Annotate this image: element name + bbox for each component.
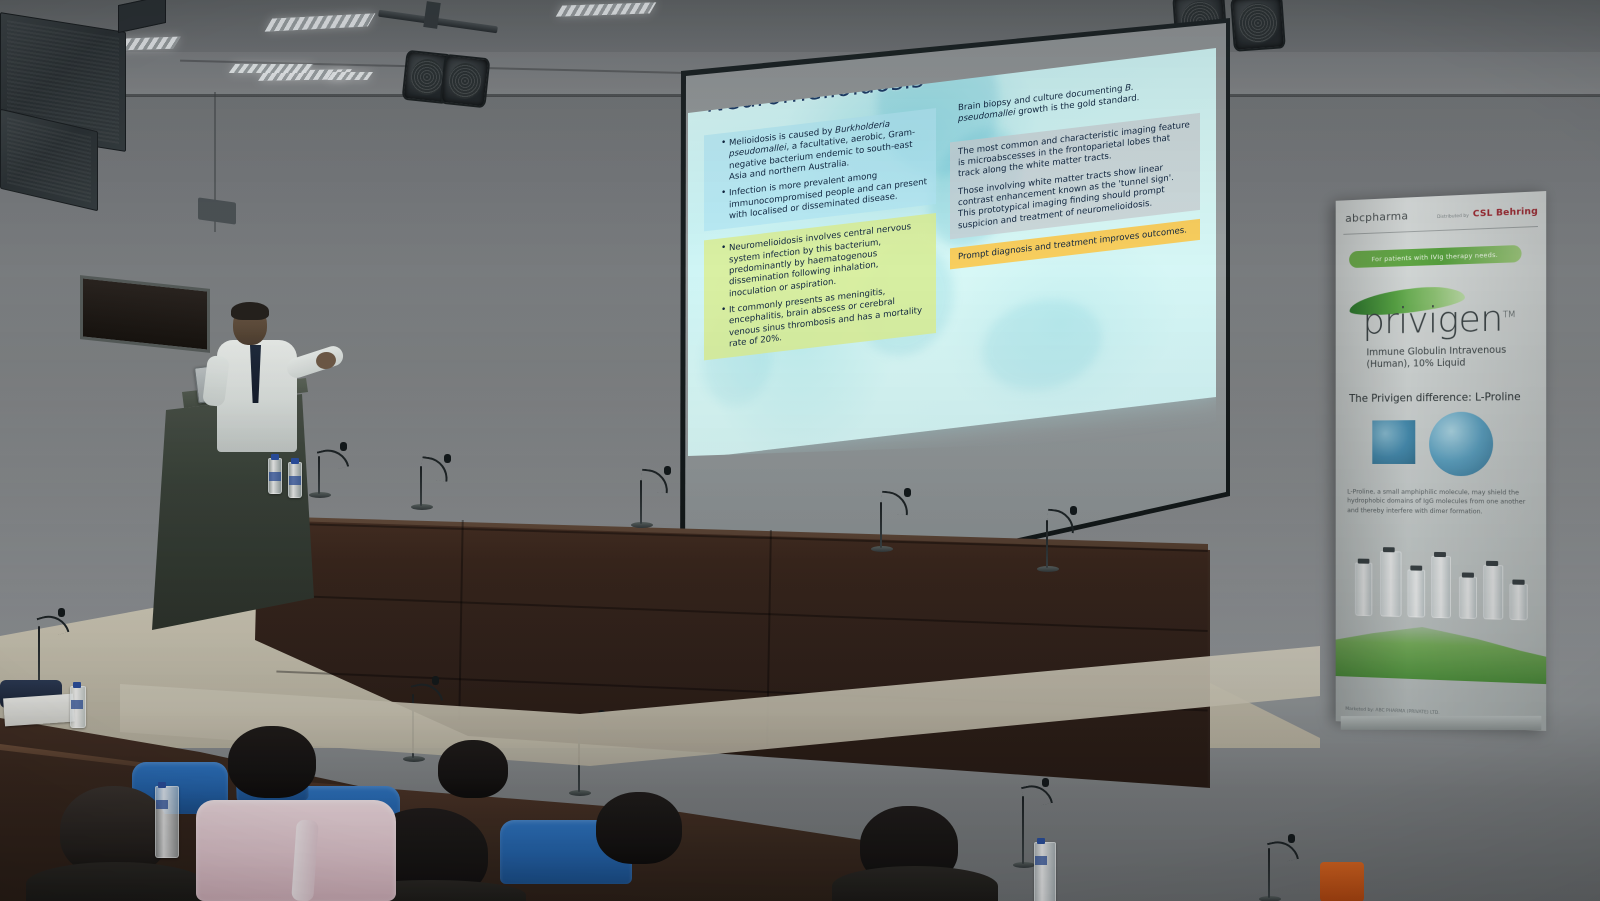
slide-text-block-green: Neuromelioidosis involves central nervou… <box>704 213 936 359</box>
slide-right-column: Brain biopsy and culture documenting B. … <box>950 69 1200 279</box>
mic-capsule <box>444 454 451 463</box>
mic-base <box>1037 566 1059 572</box>
mic-capsule <box>1070 506 1077 515</box>
water-bottle <box>268 458 282 494</box>
menu-item-powerpoint[interactable]: PowerPoint <box>703 18 736 25</box>
slide-text-block-grey: The most common and characteristic imagi… <box>950 113 1200 240</box>
presenter-hair <box>231 302 269 320</box>
mic-capsule <box>58 608 65 617</box>
mic-stem <box>1022 796 1024 864</box>
par-can-light-icon <box>440 54 491 109</box>
apple-menu-icon[interactable]:  <box>690 18 696 27</box>
slide-left-column: Melioidosis is caused by Burkholderia ps… <box>704 108 936 369</box>
mic-capsule <box>904 488 911 497</box>
audience-shoulders <box>832 866 998 901</box>
water-bottle <box>155 786 179 858</box>
wall-control-window <box>80 275 210 353</box>
audience-head <box>596 792 682 864</box>
mic-base <box>871 546 893 552</box>
water-bottle <box>1034 842 1056 901</box>
mic-capsule <box>664 466 671 475</box>
mic-base <box>403 756 425 762</box>
audience-head <box>228 726 316 798</box>
mic-base <box>411 504 433 510</box>
mic-capsule <box>340 442 347 451</box>
mic-capsule <box>1288 834 1295 843</box>
mic-capsule <box>432 676 439 685</box>
slide-text-block-blue: Melioidosis is caused by Burkholderia ps… <box>704 108 936 232</box>
water-bottle <box>288 462 302 498</box>
mic-stem <box>38 626 40 682</box>
rollup-banner: abcpharma Distributed by CSL Behring For… <box>1336 191 1546 731</box>
menu-item-file[interactable]: File <box>743 18 753 20</box>
par-can-light-icon <box>1230 0 1286 52</box>
projection-screen:  PowerPoint File Edit View Insert Forma… <box>650 18 1230 578</box>
mic-base <box>1013 862 1035 868</box>
banner-shading <box>1336 191 1546 731</box>
lecture-hall-photo:  PowerPoint File Edit View Insert Forma… <box>0 0 1600 901</box>
audience-shoulders <box>26 862 206 901</box>
audience-head <box>438 740 508 798</box>
printed-handout <box>3 694 75 727</box>
orange-object <box>1320 862 1364 901</box>
mic-base <box>309 492 331 498</box>
mic-base <box>569 790 591 796</box>
mic-capsule <box>1042 778 1049 787</box>
recessed-light-icon <box>327 72 373 80</box>
brain-watermark <box>982 292 1102 396</box>
mic-base <box>631 522 653 528</box>
recessed-light-icon <box>229 64 314 73</box>
taxon-name: Burkholderia pseudomallei <box>729 119 890 159</box>
banner-base-stand <box>1341 716 1542 730</box>
mic-base <box>1259 896 1281 901</box>
speaker-grill <box>7 117 91 202</box>
water-bottle <box>70 686 86 728</box>
